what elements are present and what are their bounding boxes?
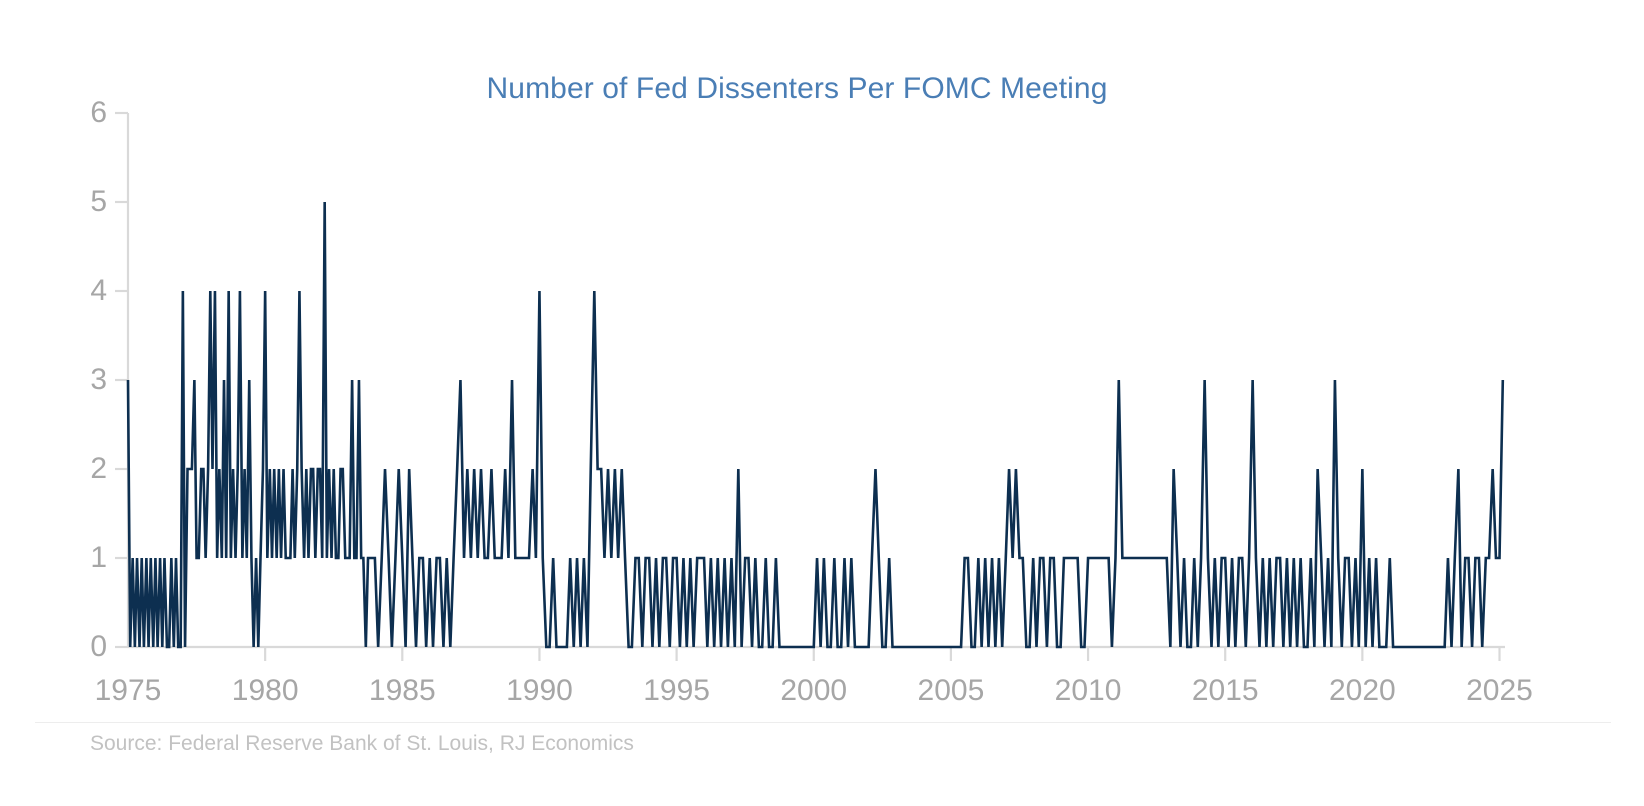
y-axis-tick-label: 2	[67, 454, 107, 484]
y-axis-tick-label: 6	[67, 98, 107, 128]
x-axis-tick-label: 2000	[754, 676, 874, 706]
x-axis-tick-label: 2020	[1302, 676, 1422, 706]
footer-divider	[35, 722, 1611, 723]
chart-figure: Number of Fed Dissenters Per FOMC Meetin…	[0, 0, 1644, 806]
source-note: Source: Federal Reserve Bank of St. Loui…	[90, 732, 634, 756]
x-axis-tick-label: 2025	[1440, 676, 1560, 706]
x-axis-tick-label: 1995	[617, 676, 737, 706]
x-axis-tick-label: 1975	[68, 676, 188, 706]
y-axis-tick-label: 5	[67, 187, 107, 217]
x-axis-tick-label: 2015	[1165, 676, 1285, 706]
y-axis-tick-label: 4	[67, 276, 107, 306]
data-series-layer	[128, 202, 1503, 647]
x-axis-tick-label: 1990	[479, 676, 599, 706]
y-axis-tick-label: 1	[67, 543, 107, 573]
y-axis-tick-label: 0	[67, 632, 107, 662]
x-axis-tick-label: 2005	[891, 676, 1011, 706]
y-axis-tick-label: 3	[67, 365, 107, 395]
x-axis-tick-label: 2010	[1028, 676, 1148, 706]
data-series-line-0	[128, 202, 1503, 647]
x-axis-tick-label: 1980	[205, 676, 325, 706]
x-axis-tick-label: 1985	[342, 676, 462, 706]
